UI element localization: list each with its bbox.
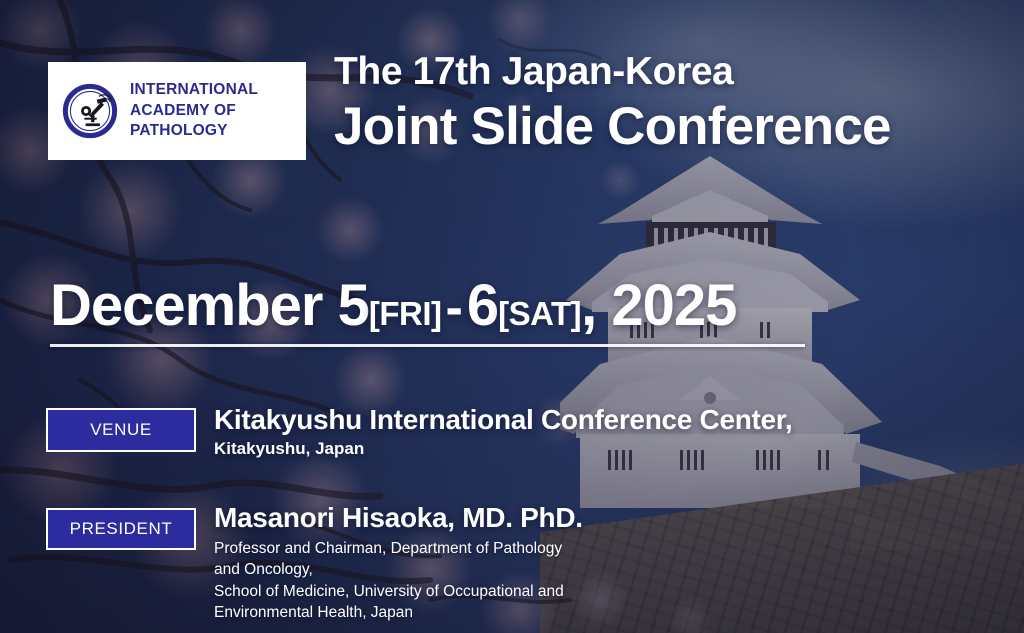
venue-details: Kitakyushu International Conference Cent… xyxy=(214,404,792,459)
title-line-2: Joint Slide Conference xyxy=(334,97,891,156)
iap-microscope-seal-icon xyxy=(62,83,118,139)
horizontal-divider xyxy=(50,344,805,347)
date-year: , 2025 xyxy=(581,273,736,338)
president-affiliation: Professor and Chairman, Department of Pa… xyxy=(214,538,583,624)
president-badge: PRESIDENT xyxy=(46,508,196,550)
date-month-start: December 5 xyxy=(50,273,369,338)
iap-logo-box: INTERNATIONAL ACADEMY OF PATHOLOGY xyxy=(48,62,306,160)
venue-city: Kitakyushu, Japan xyxy=(214,439,792,459)
president-name: Masanori Hisaoka, MD. PhD. xyxy=(214,502,583,534)
title-line-1: The 17th Japan-Korea xyxy=(334,52,891,93)
venue-name: Kitakyushu International Conference Cent… xyxy=(214,404,792,436)
iap-logo-text: INTERNATIONAL ACADEMY OF PATHOLOGY xyxy=(130,80,306,141)
date-end-day: 6 xyxy=(467,273,498,338)
conference-banner: INTERNATIONAL ACADEMY OF PATHOLOGY The 1… xyxy=(0,0,1024,633)
date-separator: - xyxy=(442,279,467,337)
conference-title: The 17th Japan-Korea Joint Slide Confere… xyxy=(334,52,891,156)
conference-date: December 5[FRI]-6[SAT], 2025 xyxy=(50,272,736,339)
date-end-weekday: [SAT] xyxy=(498,295,581,332)
venue-badge: VENUE xyxy=(46,408,196,452)
president-details: Masanori Hisaoka, MD. PhD. Professor and… xyxy=(214,502,583,624)
banner-content: INTERNATIONAL ACADEMY OF PATHOLOGY The 1… xyxy=(0,0,1024,633)
date-start-weekday: [FRI] xyxy=(369,295,442,332)
